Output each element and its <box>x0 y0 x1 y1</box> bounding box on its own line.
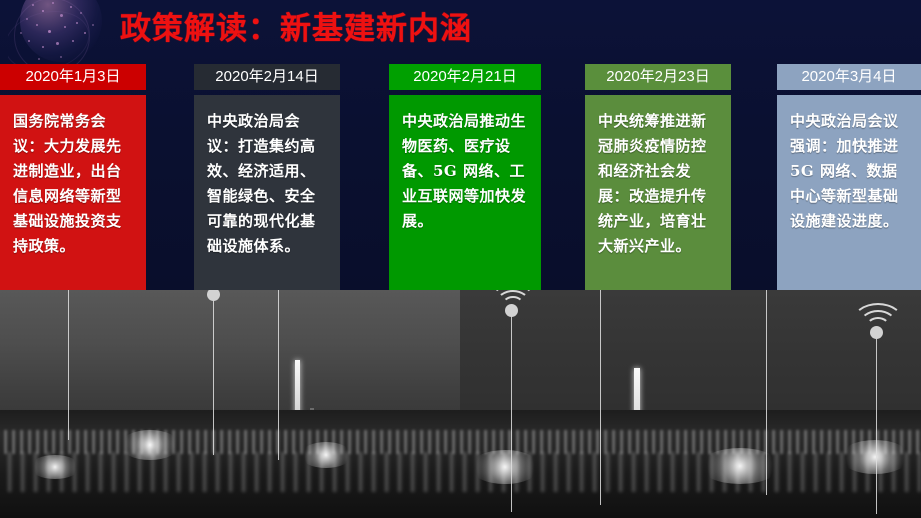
timeline-card[interactable]: 2020年2月21日 中央政治局推动生物医药、医疗设备、5G 网络、工业互联网等… <box>389 64 541 290</box>
digital-globe-icon <box>8 0 112 74</box>
timeline-card[interactable]: 2020年2月14日 中央政治局会议：打造集约高效、经济适用、智能绿色、安全可靠… <box>194 64 340 290</box>
timeline-card-date: 2020年3月4日 <box>777 64 921 90</box>
slide-root: 政策解读：新基建新内涵 <box>0 0 921 518</box>
timeline-card-date: 2020年2月23日 <box>585 64 731 90</box>
background-photo-night-harbor <box>0 290 921 518</box>
page-title: 政策解读：新基建新内涵 <box>120 9 472 49</box>
timeline-card-text: 中央政治局会议强调：加快推进5G 网络、数据中心等新型基础设施建设进度。 <box>777 95 921 290</box>
timeline-card[interactable]: 2020年3月4日 中央政治局会议强调：加快推进5G 网络、数据中心等新型基础设… <box>777 64 921 290</box>
timeline-card-text: 中央统筹推进新冠肺炎疫情防控和经济社会发展：改造提升传统产业，培育壮大新兴产业。 <box>585 95 731 290</box>
timeline-card-date: 2020年2月21日 <box>389 64 541 90</box>
timeline-card-text: 国务院常务会议：大力发展先进制造业，出台信息网络等新型基础设施投资支持政策。 <box>0 95 146 290</box>
timeline-card-date: 2020年2月14日 <box>194 64 340 90</box>
timeline-card-text: 中央政治局会议：打造集约高效、经济适用、智能绿色、安全可靠的现代化基础设施体系。 <box>194 95 340 290</box>
timeline-card-date: 2020年1月3日 <box>0 64 146 90</box>
timeline-card[interactable]: 2020年1月3日 国务院常务会议：大力发展先进制造业，出台信息网络等新型基础设… <box>0 64 146 290</box>
timeline-card-text: 中央政治局推动生物医药、医疗设备、5G 网络、工业互联网等加快发展。 <box>389 95 541 290</box>
timeline-card[interactable]: 2020年2月23日 中央统筹推进新冠肺炎疫情防控和经济社会发展：改造提升传统产… <box>585 64 731 290</box>
